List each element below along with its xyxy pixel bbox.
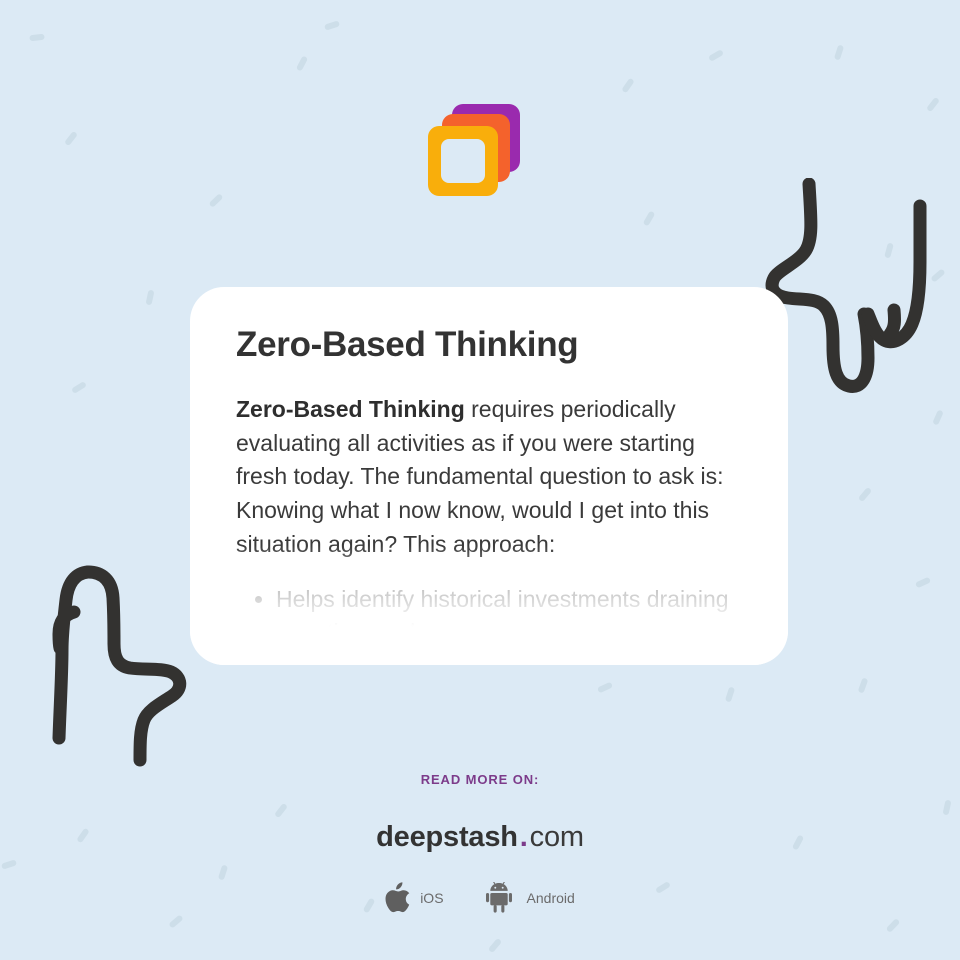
confetti-speck [168,914,183,928]
brand-wordmark[interactable]: deepstash.com [0,821,960,854]
android-badge-label: Android [527,890,575,906]
list-item: Helps identify historical investments dr… [276,583,742,648]
confetti-speck [71,381,87,394]
footer: READ MORE ON: deepstash.com iOS [0,760,960,913]
idea-body-lead: Zero-Based Thinking [236,396,465,422]
confetti-speck [324,20,340,30]
confetti-speck [930,268,945,282]
confetti-speck [64,131,78,147]
confetti-speck [932,409,944,425]
confetti-speck [725,686,735,702]
logo-cutout [441,139,485,183]
confetti-speck [29,34,45,42]
confetti-speck [488,938,502,953]
idea-card[interactable]: Zero-Based Thinking Zero-Based Thinking … [190,287,788,665]
brand-tld: com [530,821,584,853]
android-icon [486,882,518,913]
confetti-speck [209,193,224,208]
page-title: Zero-Based Thinking [236,325,742,365]
confetti-speck [834,44,844,60]
idea-bullet-list: Helps identify historical investments dr… [236,583,742,648]
ios-badge-label: iOS [420,890,443,906]
read-more-label: READ MORE ON: [0,772,960,787]
confetti-speck [884,242,894,258]
android-badge[interactable]: Android [486,882,575,913]
confetti-speck [886,918,901,933]
pointing-hand-bottom-left-icon [26,562,206,768]
brand-dot: . [520,821,528,853]
store-badges: iOS [0,882,960,913]
idea-card-content: Zero-Based Thinking Zero-Based Thinking … [190,287,788,662]
confetti-speck [915,577,931,589]
idea-body-text: Zero-Based Thinking requires periodicall… [236,393,742,561]
confetti-speck [597,682,613,694]
confetti-speck [708,49,724,62]
deepstash-idea-card-page: Zero-Based Thinking Zero-Based Thinking … [0,0,960,960]
ios-badge[interactable]: iOS [385,882,443,913]
brand-name: deepstash [376,821,518,853]
confetti-speck [146,290,155,306]
confetti-speck [296,55,308,71]
apple-icon [385,882,411,913]
confetti-speck [621,78,635,94]
deepstash-logo [428,104,520,196]
confetti-speck [926,97,940,113]
confetti-speck [858,487,872,502]
confetti-speck [858,677,869,693]
confetti-speck [643,211,656,227]
